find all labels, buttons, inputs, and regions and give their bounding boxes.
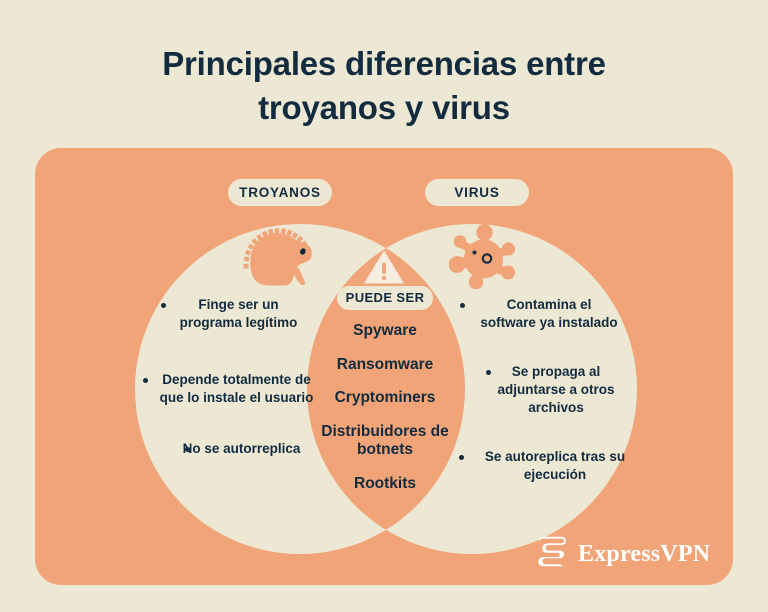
list-item: Depende totalmente de que lo instale el … — [140, 371, 325, 407]
overlap-item-list: Spyware Ransomware Cryptominers Distribu… — [311, 322, 459, 494]
overlap-item: Ransomware — [311, 356, 459, 375]
page-title: Principales diferencias entre troyanos y… — [84, 42, 684, 129]
troyanos-bullet-list: Finge ser un programa legítimo Depende t… — [140, 296, 325, 458]
page-title-line-1: Principales diferencias entre — [84, 42, 684, 86]
bullet-dot-icon — [460, 303, 465, 308]
list-item-label: Contamina el software ya instalado — [452, 296, 642, 332]
list-item: Finge ser un programa legítimo — [140, 296, 325, 332]
list-item-label: Finge ser un programa legítimo — [140, 296, 325, 332]
list-item-label: Se autoreplica tras su ejecución — [452, 448, 642, 484]
overlap-item: Cryptominers — [311, 389, 459, 408]
warning-triangle-icon — [362, 248, 406, 291]
list-item-label: Se propaga al adjuntarse a otros archivo… — [452, 363, 642, 417]
expressvpn-logo-icon — [536, 536, 569, 572]
list-item-label: No se autorreplica — [140, 440, 325, 458]
page-title-line-2: troyanos y virus — [84, 86, 684, 130]
infographic-canvas: Principales diferencias entre troyanos y… — [0, 0, 768, 612]
overlap-item: Spyware — [311, 322, 459, 341]
label-virus: VIRUS — [425, 179, 529, 206]
list-item: Se autoreplica tras su ejecución — [452, 448, 642, 484]
list-item: Se propaga al adjuntarse a otros archivo… — [452, 363, 642, 417]
bullet-dot-icon — [161, 303, 166, 308]
trojan-horse-icon — [243, 226, 329, 295]
overlap-item: Distribuidores de botnets — [311, 423, 459, 460]
list-item: Contamina el software ya instalado — [452, 296, 642, 332]
expressvpn-logo: ExpressVPN — [536, 536, 710, 572]
virus-icon — [449, 224, 519, 295]
virus-bullet-list: Contamina el software ya instalado Se pr… — [452, 296, 642, 485]
label-troyanos: TROYANOS — [228, 179, 332, 206]
list-item-label: Depende totalmente de que lo instale el … — [140, 371, 325, 407]
overlap-item: Rootkits — [311, 475, 459, 494]
label-puede-ser: PUEDE SER — [337, 286, 433, 310]
list-item: No se autorreplica — [140, 440, 325, 458]
expressvpn-logo-text: ExpressVPN — [578, 541, 710, 568]
